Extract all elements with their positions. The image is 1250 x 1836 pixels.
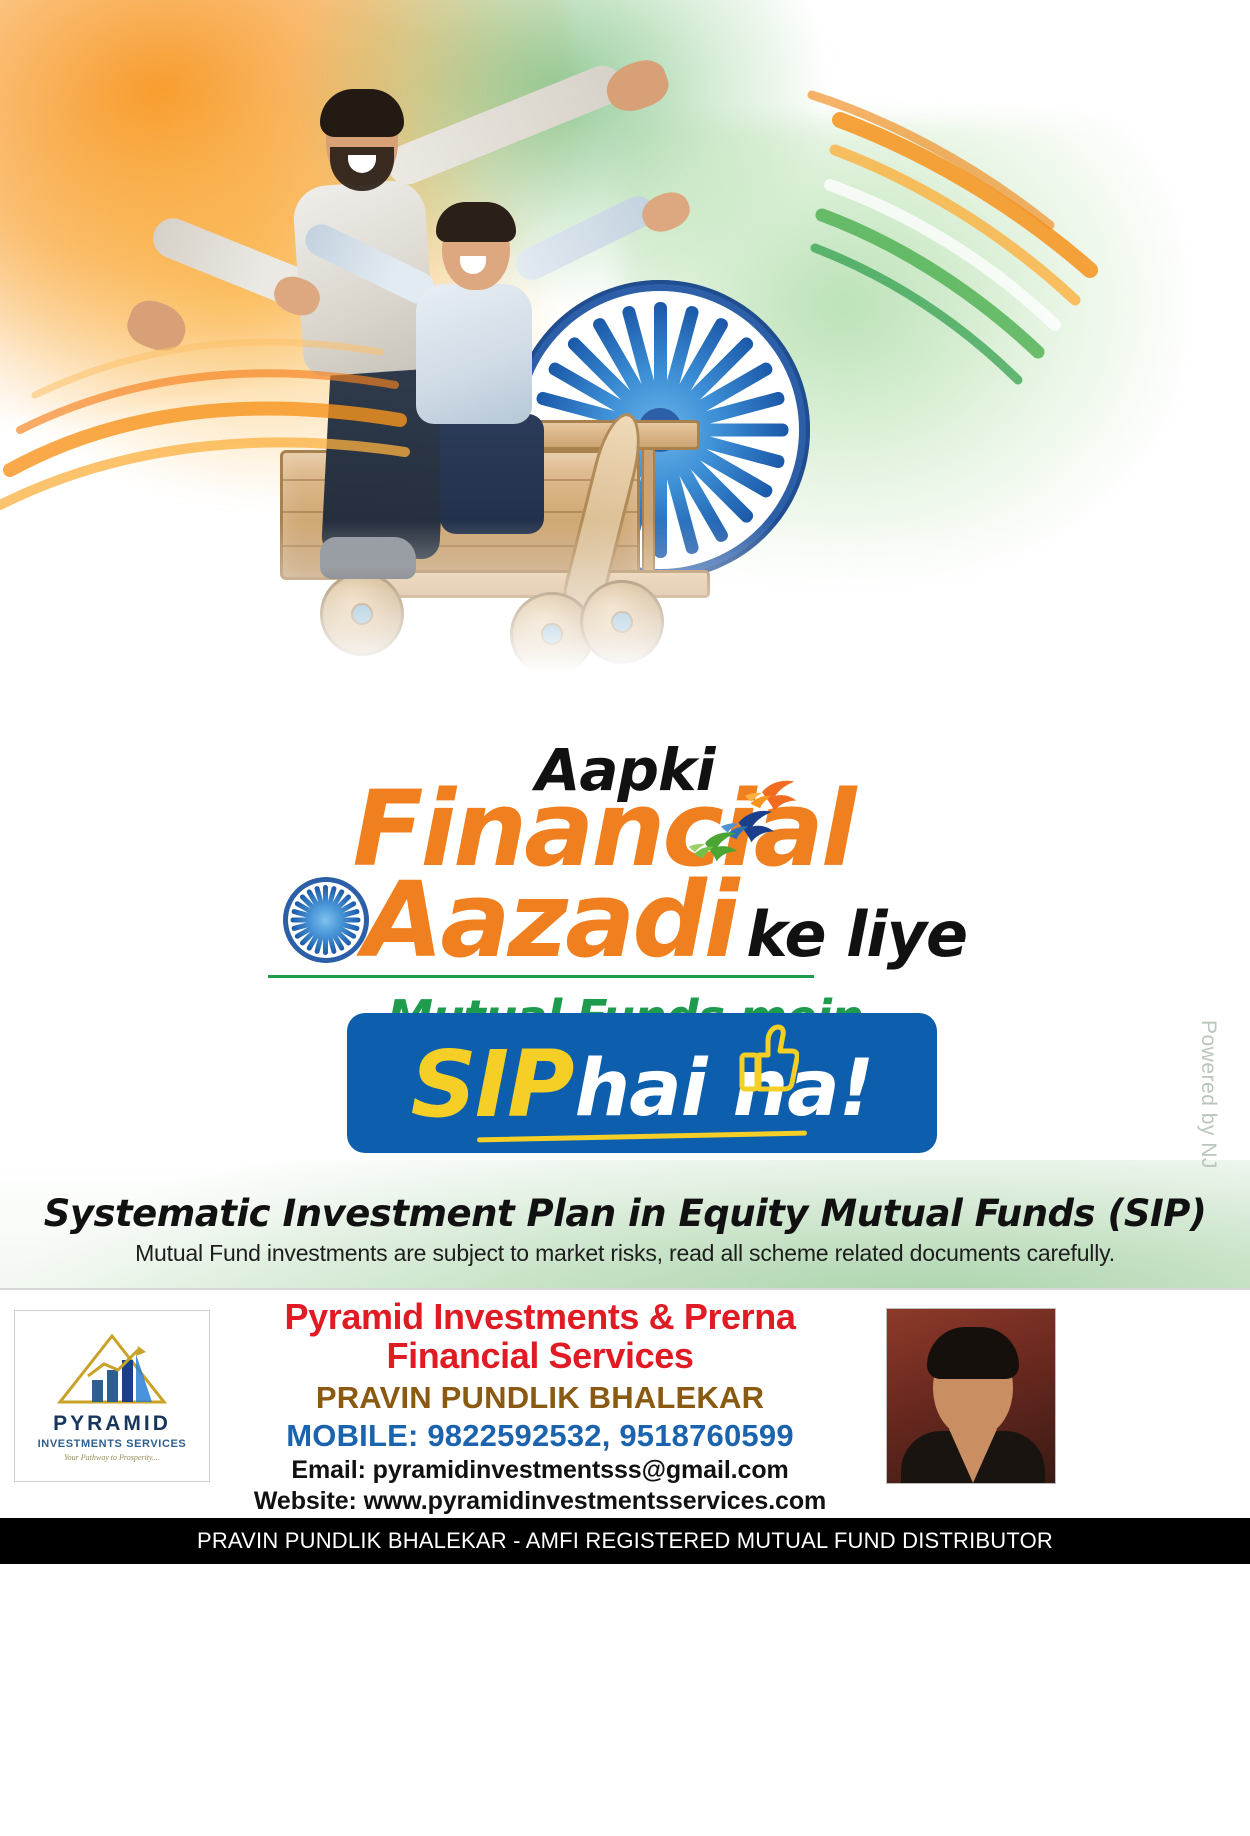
logo-tagline: Your Pathway to Prosperity....: [64, 1453, 160, 1462]
powered-by-text: Powered by NJ: [1197, 1020, 1220, 1169]
headline-block: Aapki Financial Aazadi ke liye: [0, 735, 1250, 985]
sip-label: SIP: [411, 1039, 573, 1131]
thumbs-up-icon: [737, 1023, 799, 1093]
tricolour-ribbons: [0, 0, 1250, 730]
chakra-spoke: [323, 885, 328, 920]
pyramid-logo-card: PYRAMID INVESTMENTS SERVICES Your Pathwa…: [14, 1310, 210, 1482]
logo-name: PYRAMID: [53, 1412, 171, 1436]
pyramid-logo-icon: [52, 1330, 172, 1408]
bird-orange-icon: [745, 781, 796, 811]
advisor-name: PRAVIN PUNDLIK BHALEKAR: [210, 1380, 870, 1416]
logo-subtitle: INVESTMENTS SERVICES: [38, 1438, 187, 1450]
hero-image: [0, 0, 1250, 730]
bottom-disclosure-bar: PRAVIN PUNDLIK BHALEKAR - AMFI REGISTERE…: [0, 1518, 1250, 1564]
contact-details: Pyramid Investments & Prerna Financial S…: [210, 1298, 870, 1516]
footer-divider: [0, 1288, 1250, 1290]
disclaimer-text: Mutual Fund investments are subject to m…: [0, 1240, 1250, 1267]
flying-birds-group: [685, 775, 815, 890]
website-url[interactable]: Website: www.pyramidinvestmentsservices.…: [210, 1487, 870, 1516]
bird-blue-icon: [721, 811, 774, 842]
amfi-registration-text: PRAVIN PUNDLIK BHALEKAR - AMFI REGISTERE…: [197, 1528, 1053, 1554]
headline-ke-liye: ke liye: [746, 904, 967, 972]
advisor-portrait: [886, 1308, 1056, 1484]
sip-hai-na-badge: SIP hai na!: [347, 1013, 937, 1153]
mobile-numbers[interactable]: MOBILE: 9822592532, 9518760599: [210, 1418, 870, 1454]
powered-by-nj-watermark: Powered by NJ: [1196, 1020, 1220, 1169]
tagline-text: Systematic Investment Plan in Equity Mut…: [0, 1192, 1250, 1235]
email-address[interactable]: Email: pyramidinvestmentsss@gmail.com: [210, 1456, 870, 1485]
firm-name: Pyramid Investments & Prerna Financial S…: [210, 1298, 870, 1376]
hai-na-label: hai na!: [575, 1050, 874, 1128]
poster-root: Aapki Financial Aazadi ke liye: [0, 0, 1250, 1836]
bird-green-icon: [689, 832, 738, 861]
headline-aazadi: Aazadi: [363, 868, 736, 972]
ashoka-chakra-icon-small: [283, 877, 369, 963]
headline-aazadi-row: Aazadi ke liye: [0, 868, 1250, 972]
headline-aapki: Aapki: [0, 741, 1250, 799]
footer-contact-block: PYRAMID INVESTMENTS SERVICES Your Pathwa…: [0, 1288, 1250, 1518]
